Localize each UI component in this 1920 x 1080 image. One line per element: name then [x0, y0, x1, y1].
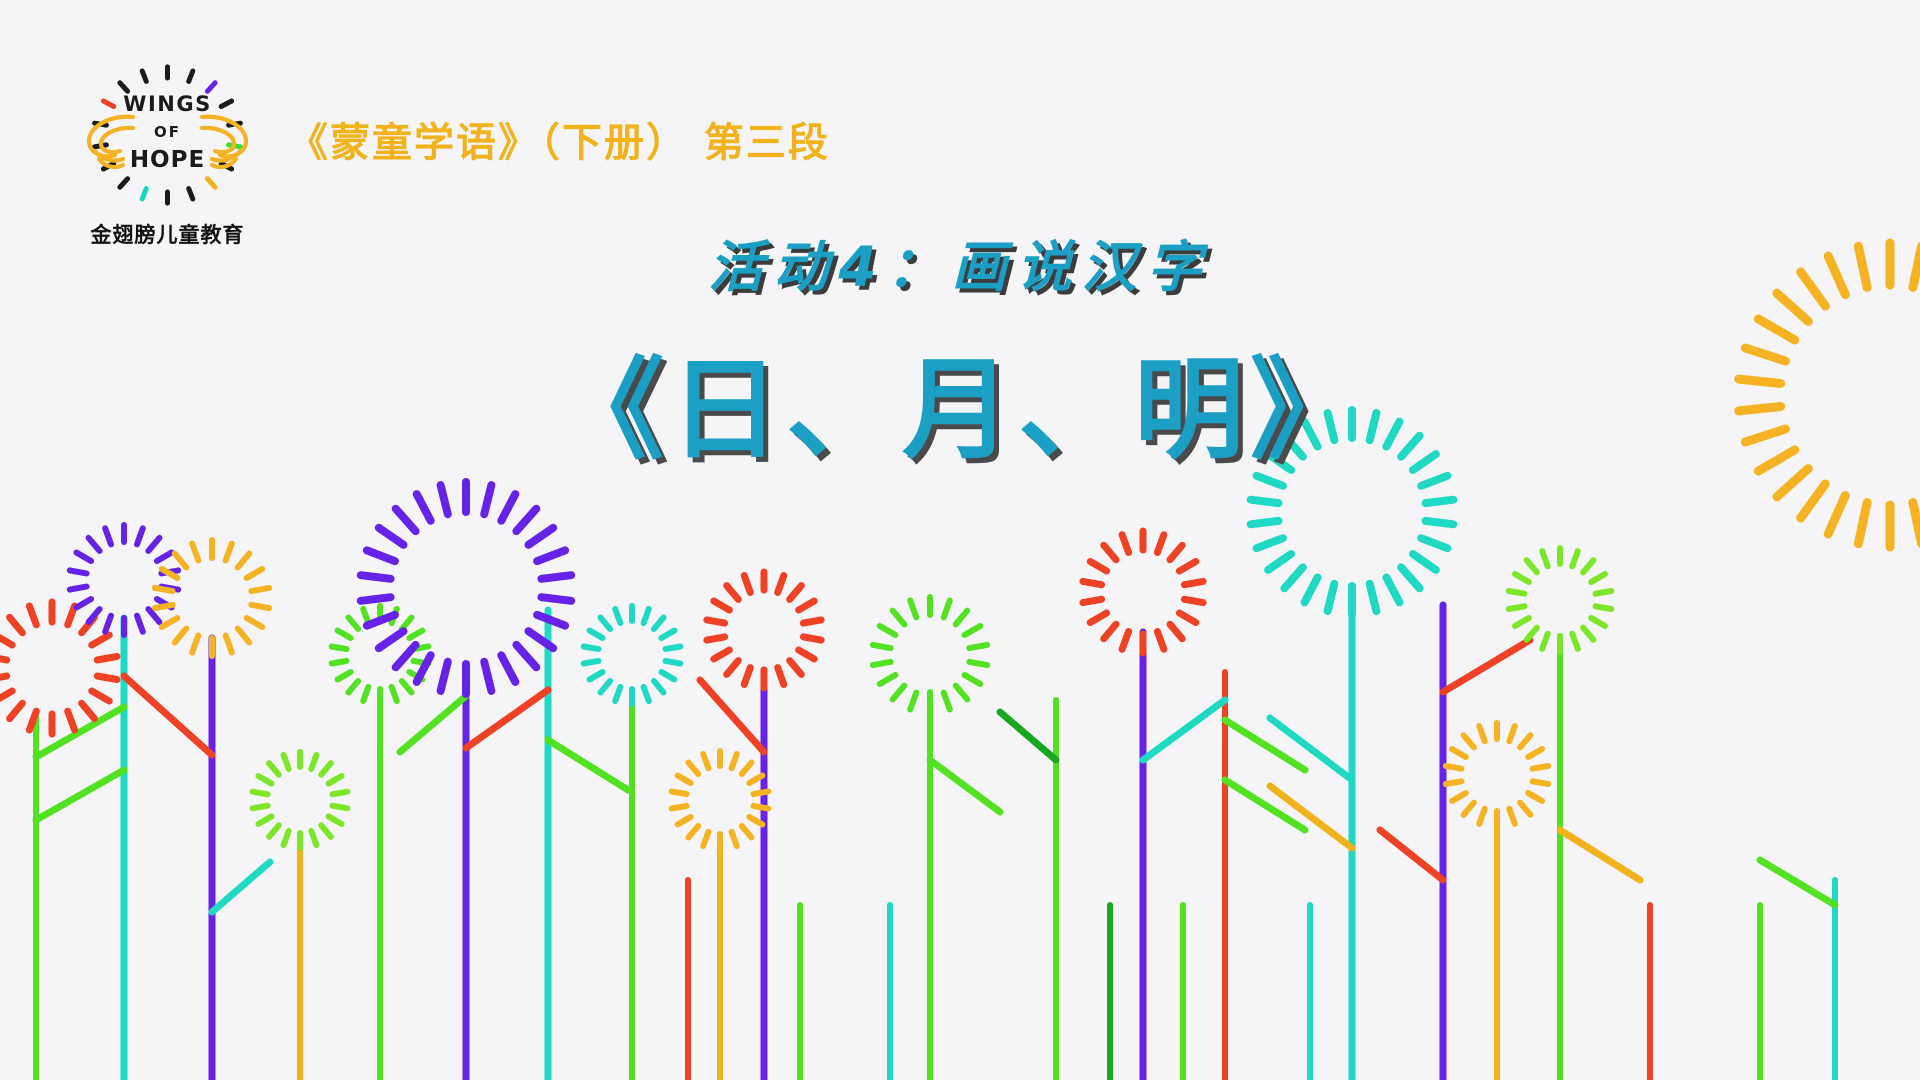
activity-title: 活动4：画说汉字 — [0, 222, 1920, 302]
logo-block: WINGS OF HOPE 金翅膀儿童教育 — [75, 55, 260, 249]
logo-word-wings: WINGS — [75, 92, 260, 116]
flower-head-icon — [1083, 531, 1203, 653]
flower-head-icon — [584, 606, 681, 704]
logo-mark: WINGS OF HOPE — [75, 55, 260, 215]
flower-head-icon — [70, 525, 178, 635]
flower-head-icon — [873, 597, 987, 713]
flower-head-icon — [1446, 723, 1548, 827]
slide-canvas: WINGS OF HOPE 金翅膀儿童教育 《蒙童学语》（下册） 第三段 活动4… — [0, 0, 1920, 1080]
flower-head-icon — [0, 602, 117, 734]
flower-leaves-group — [36, 640, 1835, 912]
flower-head-icon — [672, 751, 769, 849]
logo-word-of: OF — [75, 123, 260, 141]
flower-head-icon — [361, 482, 571, 694]
flower-head-icon — [707, 572, 821, 688]
logo-word-hope: HOPE — [75, 147, 260, 173]
lesson-title: 《日、月、明》 — [0, 320, 1920, 480]
flower-head-icon — [155, 540, 269, 656]
flower-head-icon — [1509, 548, 1611, 652]
flower-head-icon — [332, 606, 429, 704]
course-breadcrumb: 《蒙童学语》（下册） 第三段 — [288, 110, 830, 168]
flower-head-icon — [253, 752, 348, 848]
flower-stems-group — [36, 600, 1835, 1080]
